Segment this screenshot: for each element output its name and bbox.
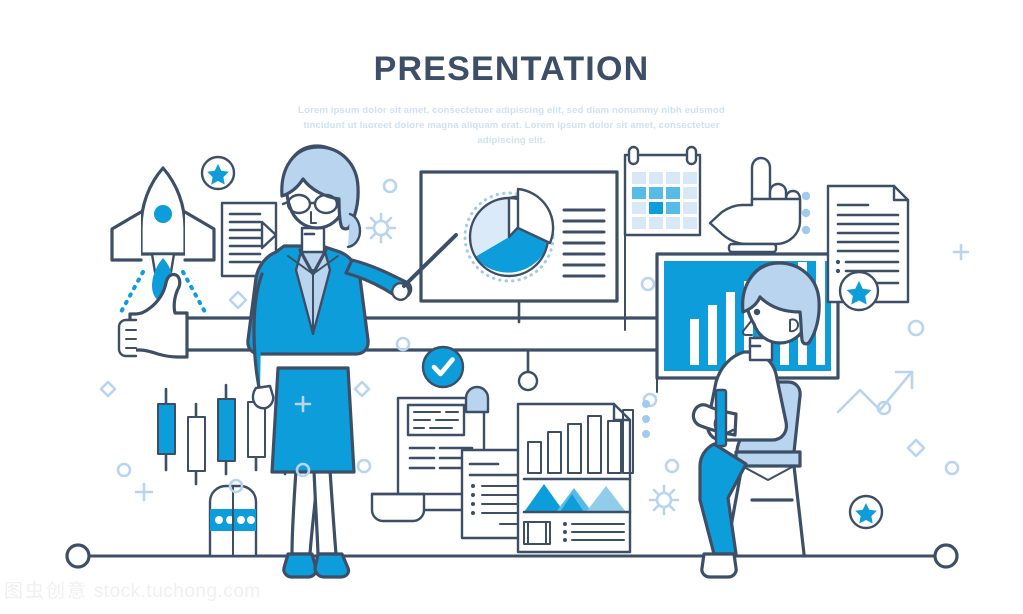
growth-arrow-icon bbox=[838, 372, 912, 412]
server-icon bbox=[210, 486, 256, 556]
presentation-illustration: .ol{fill:none;stroke:#3d4f66;stroke-widt… bbox=[0, 0, 1023, 614]
pointing-hand-icon bbox=[710, 158, 810, 252]
baseline-timeline bbox=[67, 545, 957, 567]
gear-icon bbox=[650, 486, 678, 514]
page-subtitle: Lorem ipsum dolor sit amet, consectetuer… bbox=[297, 103, 727, 148]
page-title: PRESENTATION bbox=[0, 50, 1023, 89]
watermark-latin: stock.tuchong.com bbox=[94, 581, 261, 602]
whiteboard-pie-icon bbox=[421, 172, 617, 322]
star-badge-icon bbox=[202, 157, 234, 189]
illustration-canvas: .ol{fill:none;stroke:#3d4f66;stroke-widt… bbox=[0, 0, 1023, 614]
gear-icon bbox=[367, 214, 395, 242]
watermark-chinese: 图虫创意 bbox=[4, 581, 88, 602]
watermark: 图虫创意 stock.tuchong.com bbox=[4, 576, 261, 603]
check-circle-icon bbox=[423, 347, 463, 387]
star-badge-icon bbox=[850, 496, 882, 528]
certificate-icon bbox=[828, 186, 908, 310]
report-documents-icon bbox=[372, 387, 633, 552]
